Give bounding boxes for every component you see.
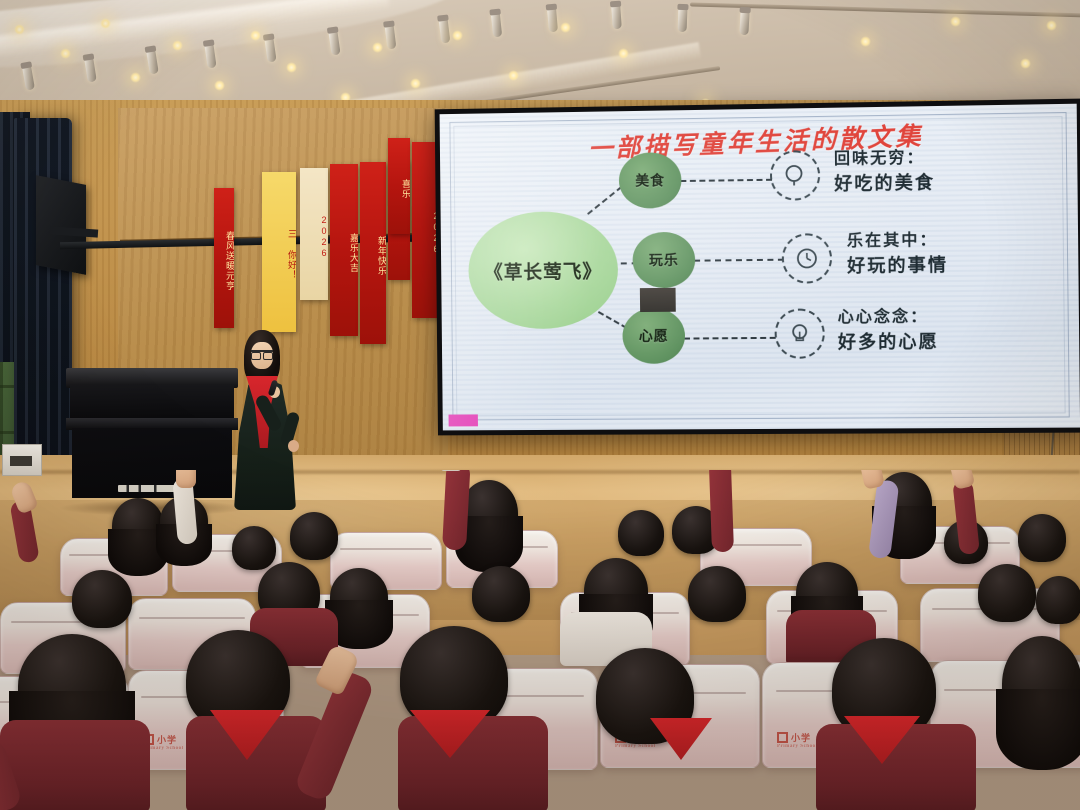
slide-node-3: 心愿 xyxy=(622,308,685,364)
clock-icon xyxy=(794,245,820,271)
spotlight-fixture xyxy=(739,11,749,35)
spotlight-fixture xyxy=(678,8,688,32)
lightbulb-icon xyxy=(787,321,813,347)
student-head xyxy=(472,566,530,622)
student-head xyxy=(1036,576,1080,624)
slide-leaf-text-2: 乐在其中： 好玩的事情 xyxy=(847,229,948,280)
seat-label-en: Primary School xyxy=(777,744,817,749)
student-head xyxy=(688,566,746,622)
recessed-downlight xyxy=(172,40,183,51)
student-head xyxy=(330,568,388,626)
leaf-heading-3: 心心念念： xyxy=(838,305,939,329)
projection-screen-frame: 一部描写童年生活的散文集 《草长莺飞》 美食 玩乐 心愿 xyxy=(435,99,1080,436)
student-head xyxy=(1018,514,1066,562)
recessed-downlight xyxy=(1020,58,1031,69)
recessed-downlight xyxy=(14,24,25,35)
projection-screen[interactable]: 一部描写童年生活的散文集 《草长莺飞》 美食 玩乐 心愿 xyxy=(440,104,1080,431)
classroom-photo-scene: 春风送暖元亨 三 你好！ 2026 嘉乐大吉 新年快乐 顺意 喜乐 2026 一… xyxy=(0,0,1080,810)
recessed-downlight xyxy=(372,42,383,53)
student-head xyxy=(618,510,664,556)
slide-dark-rectangle xyxy=(640,288,676,312)
slide-leaf-text-3: 心心念念： 好多的心愿 xyxy=(838,305,939,355)
recessed-downlight xyxy=(214,80,225,91)
recessed-downlight xyxy=(508,70,519,81)
raised-arm xyxy=(709,470,734,552)
spotlight-fixture xyxy=(611,5,622,30)
leaf-detail-3: 好多的心愿 xyxy=(838,329,939,356)
raised-hand xyxy=(176,470,196,488)
icon-circle-2 xyxy=(782,233,833,284)
seat-label: 小学 xyxy=(791,733,811,743)
seat-label: 小学 xyxy=(157,735,177,745)
leaf-heading-2: 乐在其中： xyxy=(847,229,948,253)
leaf-heading-1: 回味无穷： xyxy=(834,146,935,171)
sleeve-cuff xyxy=(441,470,461,471)
teacher-hand-right xyxy=(288,440,299,452)
banner-item: 春风送暖元亨 xyxy=(214,188,234,328)
slide-leaf-text-1: 回味无穷： 好吃的美食 xyxy=(834,146,935,197)
recessed-downlight xyxy=(130,72,141,83)
icon-circle-3 xyxy=(774,308,825,358)
magnifier-icon xyxy=(782,162,808,188)
seat-label-en: Primary School xyxy=(615,744,655,749)
recessed-downlight xyxy=(410,78,421,89)
recessed-downlight xyxy=(560,22,571,33)
student-head xyxy=(72,570,132,628)
recessed-downlight xyxy=(452,30,463,41)
seat-school-logo: 小学 Primary School xyxy=(777,731,817,749)
banner-item: 2026 xyxy=(300,168,328,300)
recessed-downlight xyxy=(950,16,961,27)
student-head xyxy=(232,526,276,570)
new-year-banner-group: 春风送暖元亨 三 你好！ 2026 嘉乐大吉 新年快乐 顺意 喜乐 2026 xyxy=(200,160,445,350)
recessed-downlight xyxy=(860,36,871,47)
banner-item: 三 你好！ xyxy=(262,172,296,332)
recessed-downlight xyxy=(60,48,71,59)
student-audience: 小学 Primary School 小学 Primary School 小学 P… xyxy=(0,470,1080,810)
wall-speaker xyxy=(36,175,86,275)
student-uniform xyxy=(0,720,150,810)
student-head xyxy=(290,512,338,560)
glasses-icon xyxy=(251,350,273,356)
leaf-detail-2: 好玩的事情 xyxy=(847,252,948,279)
banner-item: 喜乐 xyxy=(388,138,410,234)
recessed-downlight xyxy=(286,62,297,73)
student-head xyxy=(1002,636,1080,732)
school-crest-icon xyxy=(777,732,788,743)
recessed-downlight xyxy=(100,18,111,29)
leaf-detail-1: 好吃的美食 xyxy=(834,170,935,198)
recessed-downlight xyxy=(1046,20,1057,31)
recessed-downlight xyxy=(250,30,261,41)
banner-item: 新年快乐 xyxy=(360,162,386,344)
screen-status-tab xyxy=(449,414,478,426)
raised-arm xyxy=(442,470,471,551)
recessed-downlight xyxy=(618,48,629,59)
banner-item: 嘉乐大吉 xyxy=(330,164,358,336)
piano-upper-panel xyxy=(70,385,234,419)
student-head xyxy=(978,564,1036,622)
